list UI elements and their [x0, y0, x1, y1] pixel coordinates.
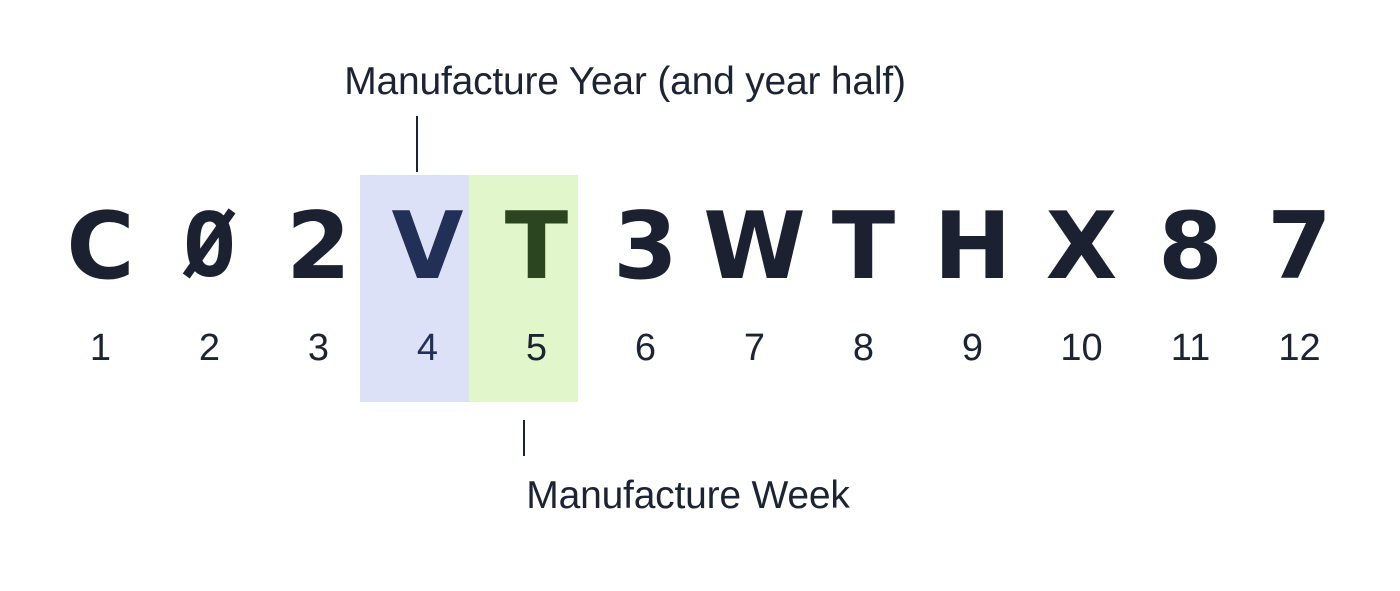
serial-character-5: T [482, 196, 591, 296]
manufacture-week-label: Manufacture Week [0, 472, 1376, 520]
serial-index-row: 123456789101112 [46, 322, 1354, 374]
manufacture-year-label: Manufacture Year (and year half) [0, 58, 1250, 106]
serial-character-1: C [46, 196, 155, 296]
serial-index-2: 2 [155, 322, 264, 374]
serial-character-2: Ø [155, 196, 264, 296]
serial-character-7: W [700, 196, 809, 296]
serial-index-8: 8 [809, 322, 918, 374]
serial-index-9: 9 [918, 322, 1027, 374]
serial-index-7: 7 [700, 322, 809, 374]
serial-character-9: H [918, 196, 1027, 296]
serial-character-row: CØ2VT3WTHX87 [46, 196, 1354, 296]
serial-character-8: T [809, 196, 918, 296]
serial-index-1: 1 [46, 322, 155, 374]
serial-character-10: X [1027, 196, 1136, 296]
serial-index-3: 3 [264, 322, 373, 374]
serial-index-6: 6 [591, 322, 700, 374]
serial-character-3: 2 [264, 196, 373, 296]
serial-character-12: 7 [1245, 196, 1354, 296]
serial-index-4: 4 [373, 322, 482, 374]
serial-index-10: 10 [1027, 322, 1136, 374]
serial-character-4: V [373, 196, 482, 296]
serial-number-diagram: Manufacture Year (and year half) CØ2VT3W… [0, 0, 1400, 591]
serial-index-12: 12 [1245, 322, 1354, 374]
serial-character-11: 8 [1136, 196, 1245, 296]
manufacture-year-leader-line [416, 116, 418, 172]
serial-index-5: 5 [482, 322, 591, 374]
serial-character-6: 3 [591, 196, 700, 296]
serial-index-11: 11 [1136, 322, 1245, 374]
manufacture-week-leader-line [523, 420, 525, 456]
